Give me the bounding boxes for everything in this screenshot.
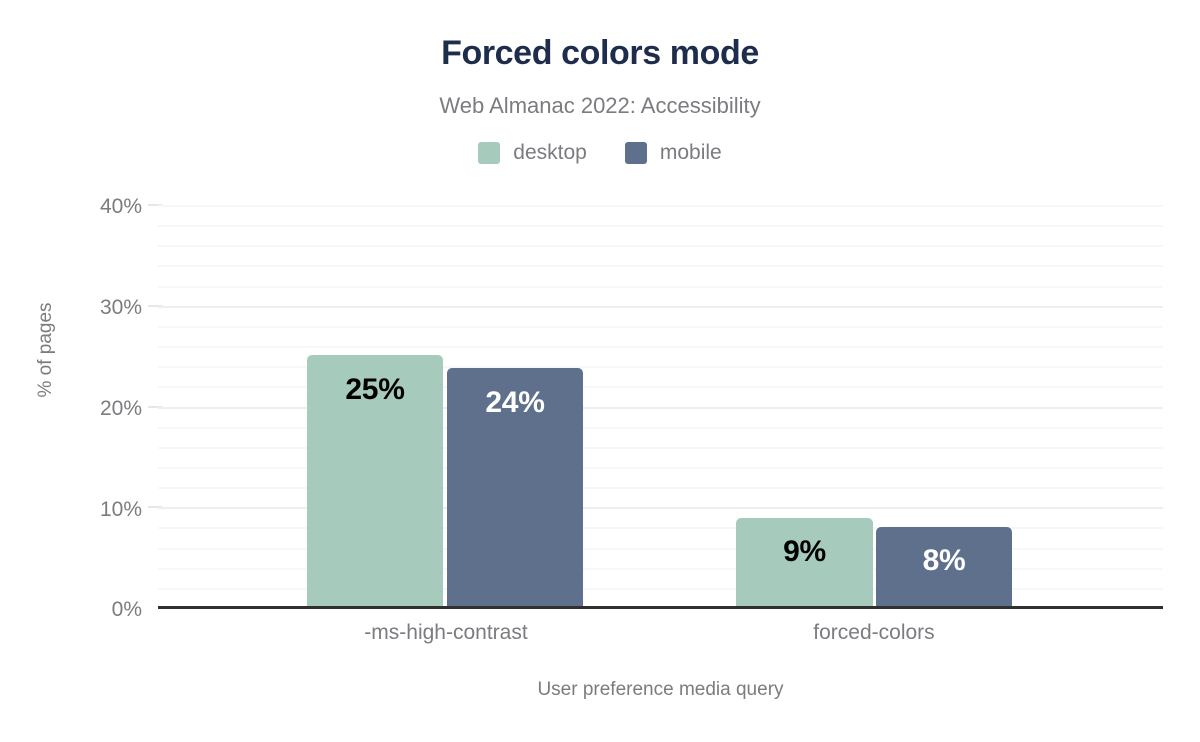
gridline-30	[158, 306, 1163, 308]
y-tick-label-10: 10%	[0, 499, 142, 520]
legend-swatch-mobile	[625, 142, 647, 164]
gridline-34	[158, 265, 1163, 267]
x-tick-label--ms-high-contrast: -ms-high-contrast	[237, 620, 655, 646]
x-axis-line	[158, 606, 1163, 609]
bar-value-label-mobile-0: 24%	[447, 386, 583, 420]
gridline-28	[158, 326, 1163, 328]
chart-subtitle: Web Almanac 2022: Accessibility	[0, 91, 1200, 121]
chart-legend: desktop mobile	[0, 141, 1200, 165]
gridline-26	[158, 346, 1163, 348]
y-tick-label-0: 0%	[0, 599, 142, 620]
bar-mobile--ms-high-contrast[interactable]: 24%	[447, 368, 583, 608]
legend-item-desktop[interactable]: desktop	[478, 141, 587, 165]
bar-desktop-forced-colors[interactable]: 9%	[736, 518, 873, 608]
y-tick-label-20: 20%	[0, 398, 142, 419]
bar-desktop--ms-high-contrast[interactable]: 25%	[307, 355, 443, 608]
gridline-40	[158, 205, 1163, 207]
y-tick-label-30: 30%	[0, 297, 142, 318]
bar-chart: Forced colors mode Web Almanac 2022: Acc…	[0, 0, 1200, 742]
y-tick-label-40: 40%	[0, 196, 142, 217]
legend-label-mobile: mobile	[660, 141, 722, 165]
bar-mobile-forced-colors[interactable]: 8%	[876, 527, 1012, 608]
legend-item-mobile[interactable]: mobile	[625, 141, 722, 165]
plot-area: 25% 24% 9% 8%	[158, 205, 1163, 608]
gridline-32	[158, 286, 1163, 288]
x-tick-label-forced-colors: forced-colors	[665, 620, 1083, 646]
bar-value-label-desktop-0: 25%	[307, 373, 443, 407]
legend-label-desktop: desktop	[513, 141, 587, 165]
gridline-38	[158, 225, 1163, 227]
bar-value-label-mobile-1: 8%	[876, 544, 1012, 578]
gridline-36	[158, 245, 1163, 247]
bar-value-label-desktop-1: 9%	[736, 535, 873, 569]
legend-swatch-desktop	[478, 142, 500, 164]
chart-title: Forced colors mode	[0, 31, 1200, 75]
x-axis-title: User preference media query	[158, 678, 1163, 702]
